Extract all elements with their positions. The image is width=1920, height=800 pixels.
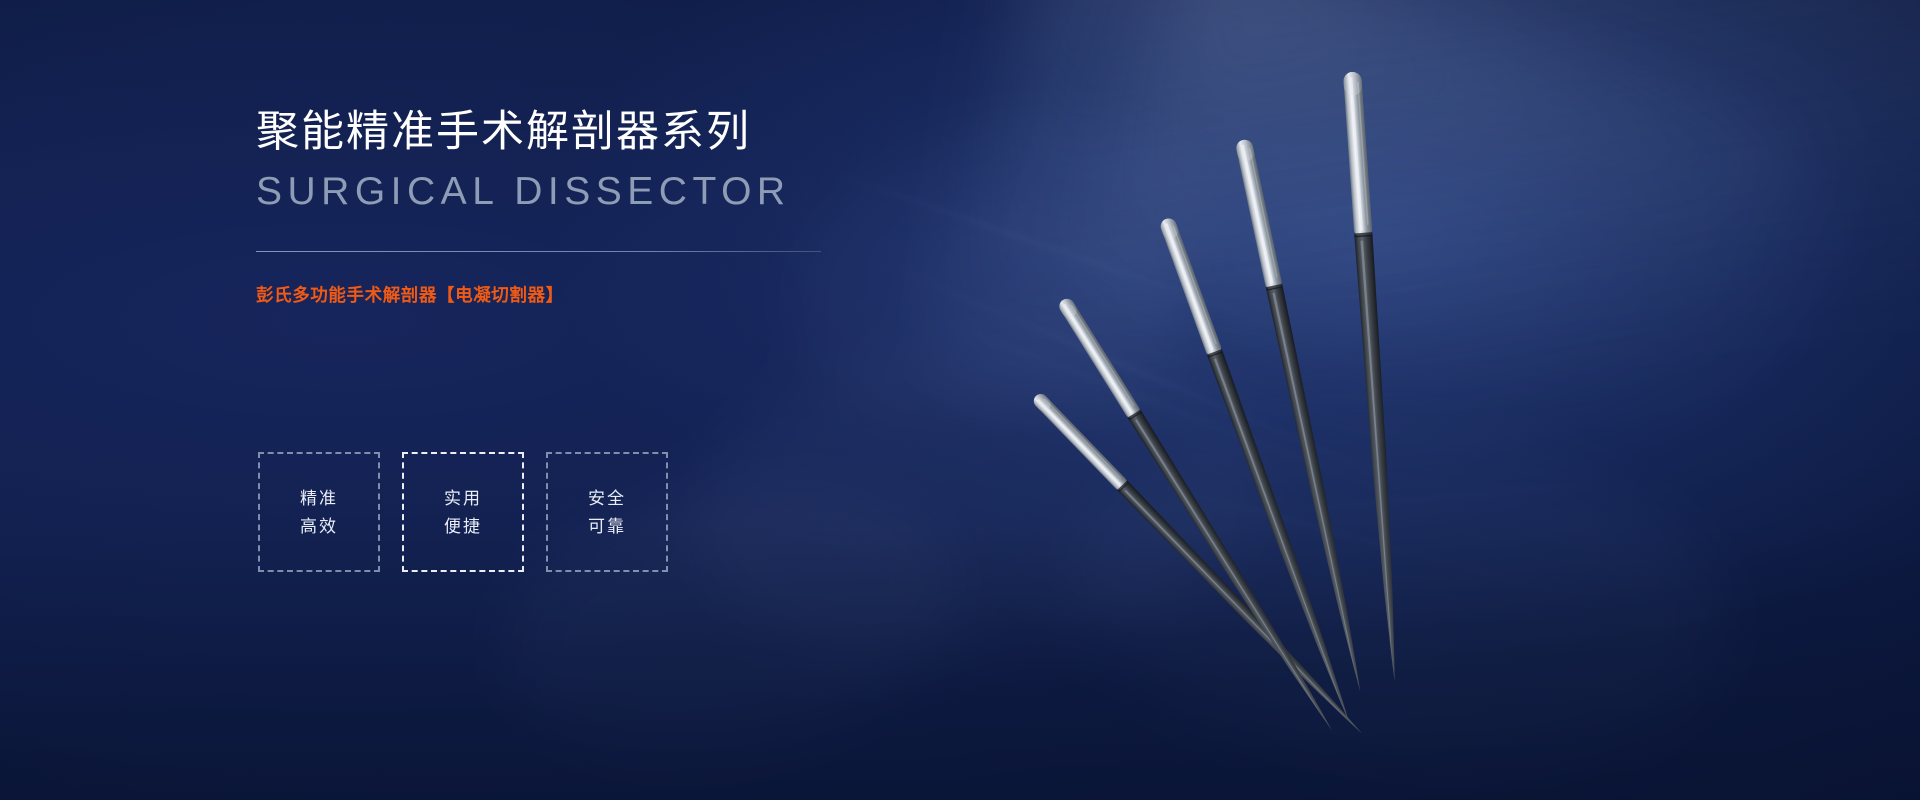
feature-badge-1: 精准 高效 xyxy=(258,452,380,572)
feature-badge-2: 实用 便捷 xyxy=(402,452,524,572)
feature-badge-1-line1: 精准 xyxy=(300,490,338,507)
title-divider xyxy=(256,251,821,252)
hero-banner: 聚能精准手术解剖器系列 SURGICAL DISSECTOR 彭氏多功能手术解剖… xyxy=(0,0,1920,800)
page-subtitle-english: SURGICAL DISSECTOR xyxy=(256,171,816,214)
feature-badge-2-line1: 实用 xyxy=(444,490,482,507)
product-name-highlight: 彭氏多功能手术解剖器【电凝切割器】 xyxy=(256,284,816,307)
feature-badge-1-line2: 高效 xyxy=(300,518,338,535)
feature-badge-3: 安全 可靠 xyxy=(546,452,668,572)
feature-badge-2-line2: 便捷 xyxy=(444,518,482,535)
feature-badge-3-line2: 可靠 xyxy=(588,518,626,535)
feature-badge-3-line1: 安全 xyxy=(588,490,626,507)
page-title: 聚能精准手术解剖器系列 xyxy=(256,108,816,157)
banner-text-block: 聚能精准手术解剖器系列 SURGICAL DISSECTOR 彭氏多功能手术解剖… xyxy=(256,108,816,307)
feature-badge-list: 精准 高效 实用 便捷 安全 可靠 xyxy=(258,452,668,572)
